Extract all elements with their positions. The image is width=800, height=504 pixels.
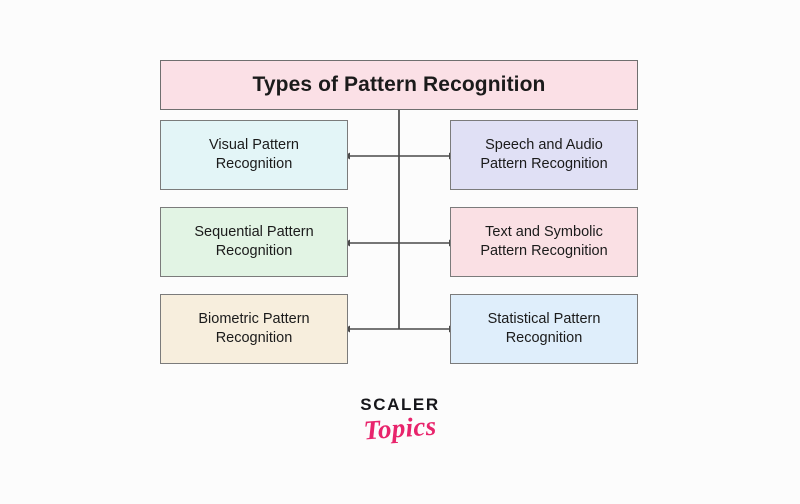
node-biometric-pattern-recognition: Biometric Pattern Recognition	[160, 294, 348, 364]
node-visual-pattern-recognition: Visual Pattern Recognition	[160, 120, 348, 190]
node-label: Text and Symbolic Pattern Recognition	[472, 223, 615, 261]
node-label: Statistical Pattern Recognition	[480, 310, 609, 348]
node-speech-and-audio-pattern-recognition: Speech and Audio Pattern Recognition	[450, 120, 638, 190]
node-label: Visual Pattern Recognition	[201, 136, 307, 174]
diagram-title-label: Types of Pattern Recognition	[245, 71, 554, 99]
node-statistical-pattern-recognition: Statistical Pattern Recognition	[450, 294, 638, 364]
diagram-canvas: Types of Pattern Recognition Visual Patt…	[0, 0, 800, 504]
node-text-and-symbolic-pattern-recognition: Text and Symbolic Pattern Recognition	[450, 207, 638, 277]
node-label: Biometric Pattern Recognition	[190, 310, 317, 348]
scaler-topics-logo: SCALER Topics	[0, 396, 800, 442]
node-sequential-pattern-recognition: Sequential Pattern Recognition	[160, 207, 348, 277]
node-label: Speech and Audio Pattern Recognition	[472, 136, 615, 174]
node-label: Sequential Pattern Recognition	[186, 223, 321, 261]
diagram-title-node: Types of Pattern Recognition	[160, 60, 638, 110]
